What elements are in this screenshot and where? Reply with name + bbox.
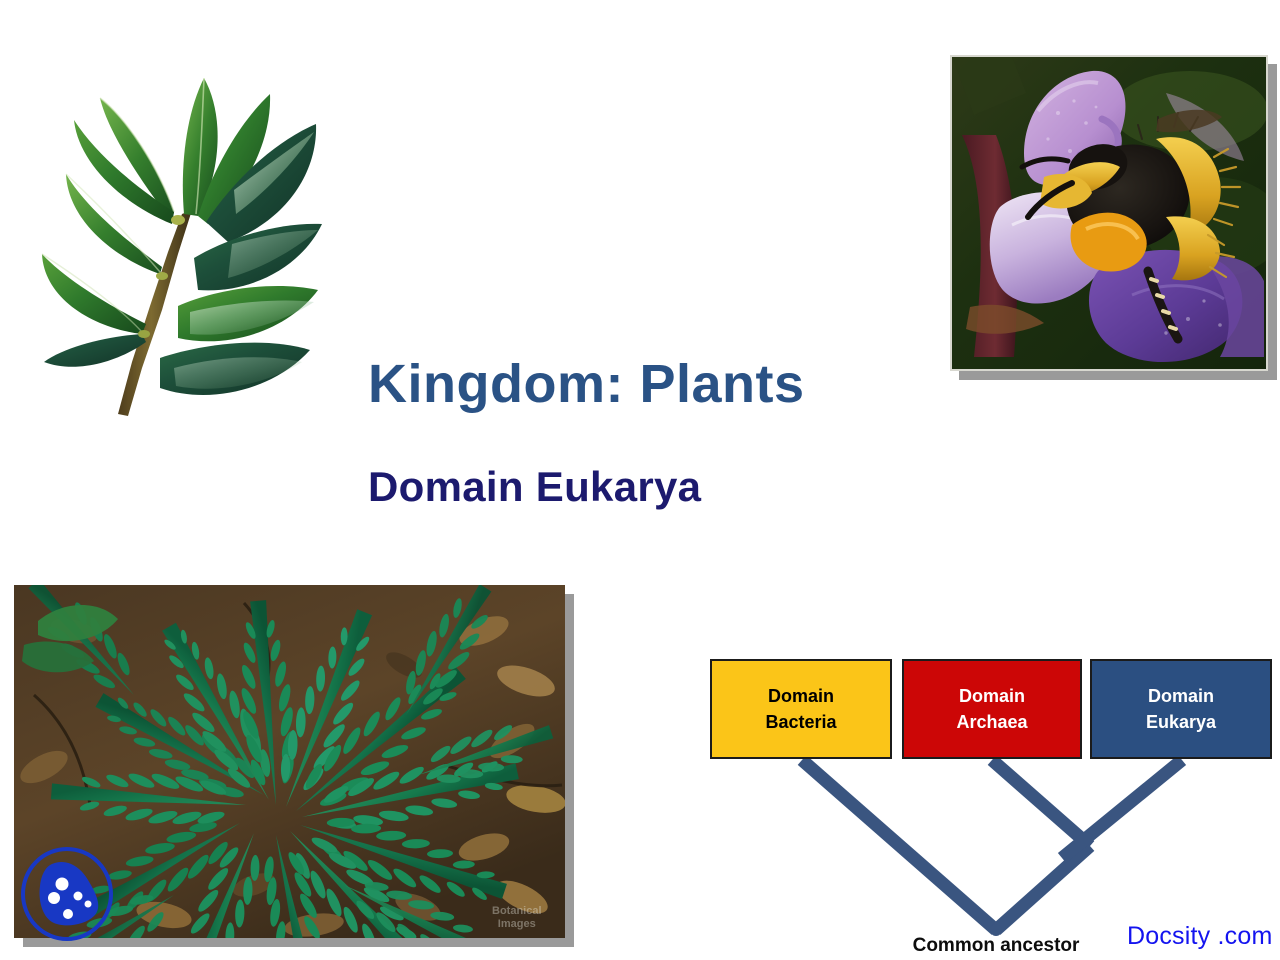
leaf-photo — [22, 62, 344, 430]
domain-box-archaea-line2: Archaea — [956, 709, 1027, 735]
branch-archaea-hidden — [992, 760, 996, 930]
domain-box-bacteria-line2: Bacteria — [765, 709, 836, 735]
bee-photo — [950, 55, 1268, 371]
domain-box-archaea-line1: Domain — [959, 683, 1025, 709]
page-title: Kingdom: Plants — [368, 357, 805, 411]
domain-box-eukarya[interactable]: Domain Eukarya — [1090, 659, 1272, 759]
docsity-watermark: Docsity .com — [1127, 922, 1272, 951]
domain-box-eukarya-line2: Eukarya — [1146, 709, 1216, 735]
branch-archaea-upper — [992, 760, 1090, 846]
docsity-logo — [18, 846, 116, 942]
domain-box-bacteria[interactable]: Domain Bacteria — [710, 659, 892, 759]
phylogenetic-tree-diagram: Domain Bacteria Domain Archaea Domain Eu… — [690, 640, 1280, 960]
common-ancestor-label: Common ancestor — [896, 935, 1096, 957]
branch-archaea-lower — [996, 846, 1090, 930]
domain-box-bacteria-line1: Domain — [768, 683, 834, 709]
branch-bacteria — [802, 760, 996, 930]
page-subtitle: Domain Eukarya — [368, 466, 701, 508]
branch-eukarya — [1062, 760, 1182, 858]
domain-box-archaea[interactable]: Domain Archaea — [902, 659, 1082, 759]
domain-box-eukarya-line1: Domain — [1148, 683, 1214, 709]
slide-canvas: Botanical Images Kingdom: Plants Domain … — [0, 0, 1280, 960]
